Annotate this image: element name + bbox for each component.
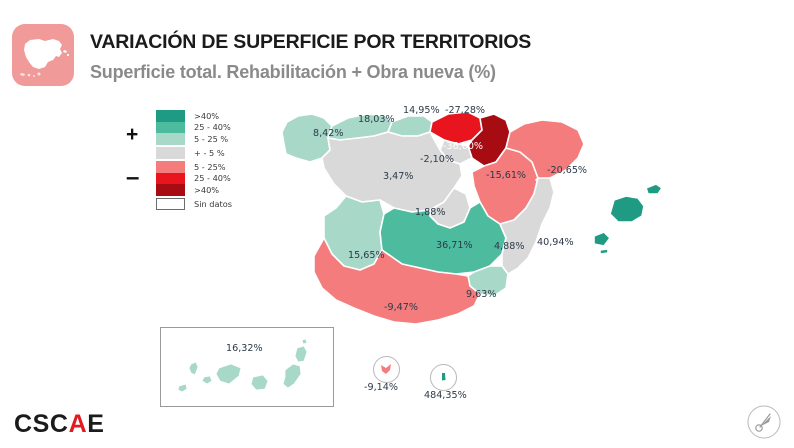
value-label-galicia: 8,42% — [313, 128, 343, 139]
compass-divider-icon — [746, 404, 782, 440]
cscae-logo: CSCAE — [14, 412, 105, 437]
legend-swatch — [156, 161, 185, 173]
legend-swatch — [156, 110, 185, 122]
island-el-hierro — [178, 384, 187, 392]
legend-row: Sin datos — [156, 198, 232, 210]
legend-swatch — [156, 198, 185, 210]
legend-row: 5 - 25% — [156, 161, 232, 173]
legend-label: >40% — [194, 185, 219, 195]
legend-swatch — [156, 122, 185, 134]
legend-swatch — [156, 133, 185, 145]
value-label-extremadura: 15,65% — [348, 250, 385, 261]
legend-label: 25 - 40% — [194, 122, 231, 132]
cscae-logo-left: CSC — [14, 410, 69, 438]
value-label-andalucia: -9,47% — [384, 302, 418, 313]
page-title: VARIACIÓN DE SUPERFICIE POR TERRITORIOS — [90, 31, 531, 54]
value-label-asturias: 18,03% — [358, 114, 395, 125]
value-label-aragon: -15,61% — [486, 170, 526, 181]
value-label-balears: 40,94% — [537, 237, 574, 248]
value-label-murcia: 9,63% — [466, 289, 496, 300]
legend-label: Sin datos — [194, 199, 232, 209]
ceuta-marker — [373, 356, 400, 383]
island-la-gomera — [202, 376, 212, 384]
canary-islands-inset — [160, 327, 334, 407]
value-label-navarra: -36,60% — [443, 141, 483, 152]
page-subtitle: Superficie total. Rehabilitación + Obra … — [90, 62, 496, 83]
legend-row: 25 - 40% — [156, 122, 232, 134]
cscae-logo-right: E — [87, 410, 104, 438]
island-tenerife — [216, 364, 241, 384]
legend-swatch — [156, 147, 185, 159]
legend-positive-sign: + — [126, 124, 138, 145]
legend-label: 5 - 25 % — [194, 134, 228, 144]
legend-row: 5 - 25 % — [156, 133, 232, 145]
legend-label: >40% — [194, 111, 219, 121]
region-balears-formentera — [600, 249, 608, 254]
legend-label: 25 - 40% — [194, 173, 231, 183]
spain-map-icon — [12, 24, 74, 86]
value-label-ceuta: -9,14% — [364, 382, 398, 393]
ceuta-shape-icon — [374, 357, 399, 382]
region-balears-mallorca — [610, 196, 644, 222]
region-balears-menorca — [646, 184, 662, 194]
island-lanzarote — [295, 346, 307, 362]
value-label-pais-vasco: -27,28% — [445, 105, 485, 116]
value-label-valencia: 4,88% — [494, 241, 524, 252]
legend-swatch — [156, 184, 185, 196]
value-label-canarias: 16,32% — [226, 343, 263, 354]
legend-row: >40% — [156, 184, 232, 196]
infographic-canvas: VARIACIÓN DE SUPERFICIE POR TERRITORIOS … — [0, 0, 794, 448]
melilla-marker — [430, 364, 457, 391]
island-fuerteventura — [283, 364, 301, 388]
legend-negative-sign: – — [126, 166, 139, 190]
island-gran-canaria — [251, 375, 268, 390]
legend-row: + - 5 % — [156, 147, 232, 159]
value-label-castilla-la-mancha: 36,71% — [436, 240, 473, 251]
region-balears-ibiza — [594, 232, 610, 246]
island-la-graciosa — [302, 339, 307, 344]
melilla-shape-icon — [431, 365, 456, 390]
legend-row: 25 - 40% — [156, 173, 232, 185]
value-label-melilla: 484,35% — [424, 390, 467, 401]
island-la-palma — [189, 362, 198, 375]
legend-row: >40% — [156, 110, 232, 122]
value-label-cataluna: -20,65% — [547, 165, 587, 176]
value-label-castilla-leon: 3,47% — [383, 171, 413, 182]
value-label-madrid: 1,88% — [415, 207, 445, 218]
value-label-la-rioja: -2,10% — [420, 154, 454, 165]
value-label-cantabria: 14,95% — [403, 105, 440, 116]
legend-swatch — [156, 173, 185, 185]
legend-label: + - 5 % — [194, 148, 225, 158]
legend-label: 5 - 25% — [194, 162, 226, 172]
cscae-logo-a: A — [69, 410, 88, 438]
